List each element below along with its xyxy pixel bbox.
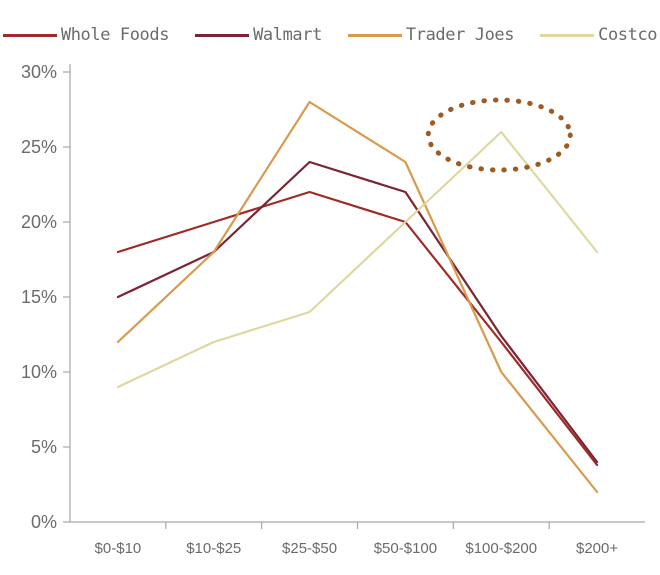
x-axis-tick-label: $200+ (549, 541, 645, 556)
series-line-costco (118, 132, 597, 387)
x-axis-tick-label: $50-$100 (358, 541, 454, 556)
x-axis-tick-label: $10-$25 (166, 541, 262, 556)
plot-svg (0, 0, 660, 575)
y-axis-tick-label: 10% (0, 363, 57, 381)
y-axis-tick-label: 30% (0, 63, 57, 81)
plot-area: 0%5%10%15%20%25%30% $0-$10$10-$25$25-$50… (0, 0, 660, 575)
series-layer (118, 102, 597, 492)
y-axis-tick-label: 15% (0, 288, 57, 306)
x-axis-tick-label: $100-$200 (453, 541, 549, 556)
series-line-whole-foods (118, 192, 597, 465)
y-axis-tick-label: 25% (0, 138, 57, 156)
y-axis-tick-label: 20% (0, 213, 57, 231)
x-axis-tick-label: $25-$50 (262, 541, 358, 556)
x-axis-tick-label: $0-$10 (70, 541, 166, 556)
axis-layer (63, 64, 645, 529)
y-axis-tick-label: 5% (0, 438, 57, 456)
y-axis-tick-label: 0% (0, 513, 57, 531)
line-chart: Whole Foods Walmart Trader Joes Costco 0… (0, 0, 660, 575)
